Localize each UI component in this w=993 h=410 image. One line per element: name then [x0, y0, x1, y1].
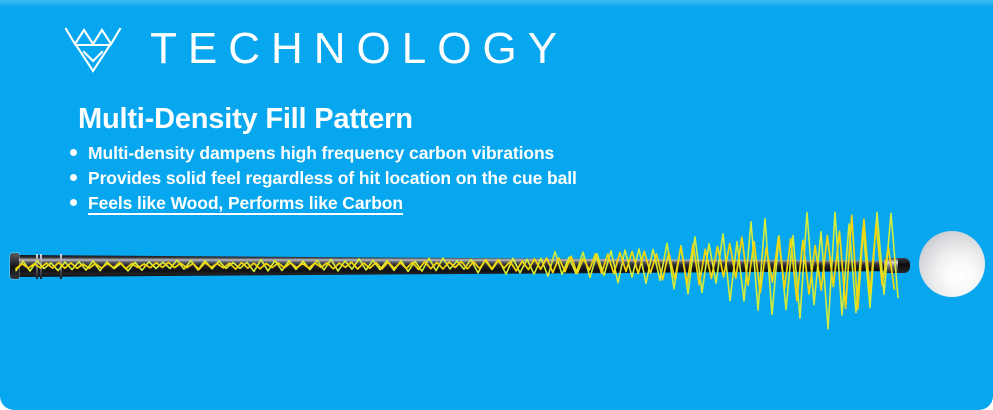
- brand-row: TECHNOLOGY: [62, 24, 568, 74]
- technology-panel: TECHNOLOGY Multi-Density Fill Pattern Mu…: [0, 0, 993, 410]
- bullet-dot-icon: [70, 174, 77, 181]
- list-item: Multi-density dampens high frequency car…: [70, 143, 577, 165]
- cue-joint-ring: [40, 254, 42, 279]
- cue-joint-ring: [60, 254, 62, 279]
- pool-cue-shaft: [14, 255, 904, 277]
- wordmark-technology: TECHNOLOGY: [150, 27, 568, 71]
- top-sheen-strip: [0, 0, 993, 9]
- w-funnel-logo-icon: [62, 24, 124, 74]
- list-item-label: Multi-density dampens high frequency car…: [88, 143, 554, 165]
- cue-joint-ring: [36, 254, 38, 279]
- list-item-label: Provides solid feel regardless of hit lo…: [88, 168, 577, 190]
- bullet-dot-icon: [70, 149, 77, 156]
- cue-tip: [898, 258, 910, 273]
- cue-butt-cap: [10, 253, 19, 279]
- cue-illustration: [0, 198, 993, 348]
- cue-ball: [919, 231, 985, 297]
- list-item: Provides solid feel regardless of hit lo…: [70, 168, 577, 190]
- page-title: Multi-Density Fill Pattern: [78, 104, 413, 135]
